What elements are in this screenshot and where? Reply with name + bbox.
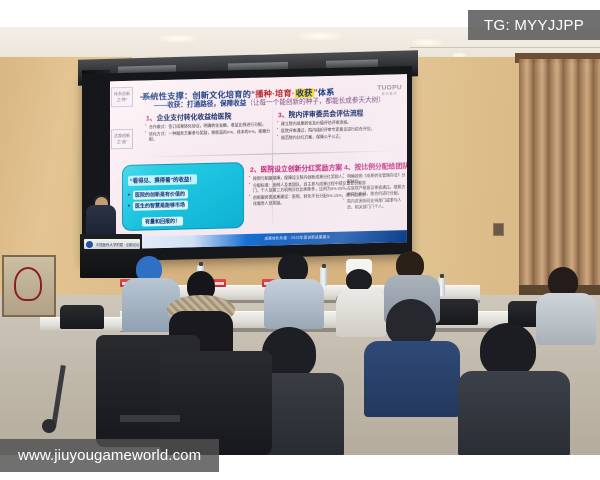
logo-subtitle: 拓普医疗 xyxy=(377,91,402,96)
person-body xyxy=(264,279,324,329)
ceiling-light xyxy=(300,32,340,40)
slide-corner-logo: TUOPU 拓普医疗 xyxy=(377,84,402,96)
chevron-right-icon: ▸ xyxy=(128,192,131,197)
callout-footer-label: 有量和回报的！ xyxy=(142,217,183,227)
podium-nameplate: 中国医科大学附属 · 创新论坛 xyxy=(84,239,140,249)
person-head xyxy=(386,299,436,347)
slide-side-tab-2: 活育创新之“苗” xyxy=(111,129,133,150)
chevron-right-icon: ▸ xyxy=(128,204,131,209)
presentation-slide: 体系创新之“种” 活育创新之“苗” 系统性支撑：创新文化培育的“播种·培育·收获… xyxy=(110,74,407,249)
person-body xyxy=(458,371,570,455)
podium-nameplate-text: 中国医科大学附属 · 创新论坛 xyxy=(96,242,140,247)
person-head xyxy=(346,269,372,291)
person-body xyxy=(536,293,596,345)
slide-footer-text: 成果转化年度 · 2025年度创新成果展示 xyxy=(264,234,330,241)
section-4-bullet: 院内资源协同支持部门或参与人员、相关部门门个人。 xyxy=(344,197,406,210)
slide-section-3: 3、院内评审委员会评估流程 建立院内成果转化及价值评估评审流程。 医院评审通过，… xyxy=(278,106,406,141)
water-bottle xyxy=(320,267,327,286)
wall-art-motif xyxy=(14,267,42,301)
chair-leg xyxy=(42,419,56,433)
institution-seal-icon xyxy=(86,241,93,248)
projection-screen: 体系创新之“种” 活育创新之“苗” 系统性支撑：创新文化培育的“播种·培育·收获… xyxy=(82,66,412,262)
slide-side-tab-1: 体系创新之“种” xyxy=(111,87,133,108)
section-3-number: 3、 xyxy=(278,112,289,119)
section-2-number: 2、 xyxy=(250,167,261,174)
chair xyxy=(60,305,104,329)
person-body xyxy=(336,289,386,337)
section-1-bullet: 转化方式：一种服务方案参与奖励，按收益的X%、成本的X%，按期分配。 xyxy=(146,128,274,142)
screenshot-root: 体系创新之“种” 活育创新之“苗” 系统性支撑：创新文化培育的“播种·培育·收获… xyxy=(0,0,600,480)
wall-socket xyxy=(493,223,504,236)
watermark-website: www.jiuyougameworld.com xyxy=(0,439,219,472)
ceiling-light xyxy=(412,39,442,46)
person-head xyxy=(480,323,536,377)
callout-title: “看得见、摸得着”的收益！ xyxy=(128,174,197,186)
section-3-bullet: 规范院内分红方案，保障公平公正。 xyxy=(278,132,406,141)
screen-surface: 体系创新之“种” 活育创新之“苗” 系统性支撑：创新文化培育的“播种·培育·收获… xyxy=(110,74,407,249)
conference-room-photo: 体系创新之“种” 活育创新之“苗” 系统性支撑：创新文化培育的“播种·培育·收获… xyxy=(0,27,600,455)
slide-section-1: 1、企业支付转化收益给医院 合作模式：签订成果转化协议，明确转化金额、收益比例进… xyxy=(146,109,274,142)
slide-divider-horizontal xyxy=(146,150,400,157)
ceiling-light xyxy=(160,35,196,42)
section-4-number: 4、 xyxy=(344,164,355,171)
section-1-number: 1、 xyxy=(146,115,157,122)
slide-subtitle-note: （让每一个能创新的种子，都能长成参天大树） xyxy=(246,97,384,107)
section-1-title: 企业支付转化收益给医院 xyxy=(157,113,232,122)
section-2-title: 医院设立创新分红奖励方案 xyxy=(261,165,343,174)
section-4-bullet: 在医院严格意见审核通过，按照方案进行申请，按合约进行分配。 xyxy=(344,184,406,197)
watermark-telegram: TG: MYYJJPP xyxy=(468,10,600,40)
slide-callout-box: “看得见、摸得着”的收益！ ▸ 医院的创新是有价值的 ▸ 医生的智慧是能够市场 … xyxy=(122,162,244,231)
slide-subtitle-lead: ——收获： xyxy=(154,101,187,109)
chair-leg xyxy=(120,415,180,422)
section-3-title: 院内评审委员会评估流程 xyxy=(289,110,364,119)
window-curtain xyxy=(519,59,600,294)
callout-item: ▸ 医生的智慧是能够市场 xyxy=(128,199,238,211)
slide-subtitle-main: 打通路径，保障收益 xyxy=(187,100,246,108)
callout-item: ▸ 医院的创新是有价值的 xyxy=(128,188,238,200)
callout-item-label: 医院的创新是有价值的 xyxy=(133,189,188,199)
section-4-title: 按比例分配给团队与发明人 xyxy=(355,162,407,171)
section-4-heading: 4、按比例分配给团队与发明人 xyxy=(344,160,406,172)
slide-section-4: 4、按比例分配给团队与发明人 明确按照《成果转化管理办法》分配执行。 在医院严格… xyxy=(344,160,406,210)
section-4-bullet: 明确按照《成果转化管理办法》分配执行。 xyxy=(344,172,406,185)
ceiling-trim xyxy=(410,47,600,48)
person-body xyxy=(364,341,460,417)
slide-footer-bar: 成果转化年度 · 2025年度创新成果展示 xyxy=(110,230,407,249)
callout-item-label: 医生的智慧是能够市场 xyxy=(133,201,188,211)
